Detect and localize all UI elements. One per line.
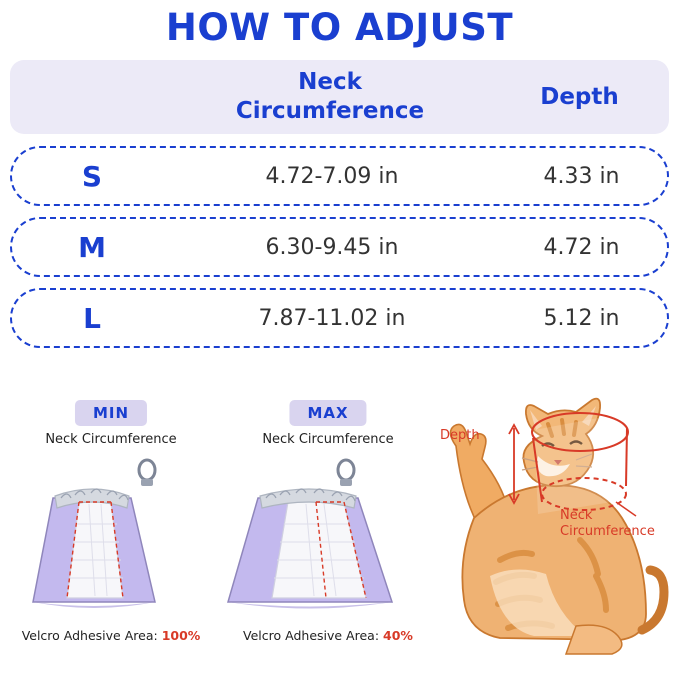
table-header-neck-line1: Neck <box>170 68 490 97</box>
velcro-label-max: Velcro Adhesive Area: <box>243 628 379 643</box>
table-header-depth: Depth <box>490 84 669 110</box>
label-neck-line2: Circumference <box>560 524 655 540</box>
table-header-neck-circumference: Neck Circumference <box>170 68 490 126</box>
panel-max-caption: Neck Circumference <box>222 432 434 447</box>
table-header-row: Neck Circumference Depth <box>10 60 669 134</box>
velcro-value-max: 40% <box>383 628 413 643</box>
table-row: S 4.72-7.09 in 4.33 in <box>10 146 669 206</box>
badge-max: MAX <box>289 400 366 426</box>
cone-max-illustration <box>222 452 434 627</box>
row-size-m: M <box>12 231 172 264</box>
row-neck-s: 4.72-7.09 in <box>172 164 492 189</box>
panel-max: MAX Neck Circumference <box>222 390 434 650</box>
velcro-label-min: Velcro Adhesive Area: <box>22 628 158 643</box>
label-depth: Depth <box>440 428 480 443</box>
adjustment-panels: MIN Neck Circumference <box>0 390 679 685</box>
row-size-s: S <box>12 160 172 193</box>
table-row: M 6.30-9.45 in 4.72 in <box>10 217 669 277</box>
row-neck-m: 6.30-9.45 in <box>172 235 492 260</box>
table-header-neck-line2: Circumference <box>170 97 490 126</box>
ring-icon <box>338 460 354 486</box>
label-neck-circumference: Neck Circumference <box>560 508 655 541</box>
table-row: L 7.87-11.02 in 5.12 in <box>10 288 669 348</box>
cone-min-illustration <box>5 452 217 627</box>
panel-min: MIN Neck Circumference <box>5 390 217 650</box>
panel-cat-measurement: Depth Neck Circumference <box>430 390 679 685</box>
ring-icon <box>139 460 155 486</box>
row-neck-l: 7.87-11.02 in <box>172 306 492 331</box>
size-chart-table: Neck Circumference Depth S 4.72-7.09 in … <box>10 60 669 359</box>
cone-on-cat <box>534 418 636 514</box>
row-size-l: L <box>12 302 172 335</box>
row-depth-s: 4.33 in <box>492 164 671 189</box>
label-neck-line1: Neck <box>560 508 655 524</box>
velcro-area-max: Velcro Adhesive Area: 40% <box>222 628 434 643</box>
panel-min-caption: Neck Circumference <box>5 432 217 447</box>
velcro-area-min: Velcro Adhesive Area: 100% <box>5 628 217 643</box>
page-title: HOW TO ADJUST <box>0 6 679 49</box>
velcro-value-min: 100% <box>162 628 201 643</box>
badge-min: MIN <box>75 400 147 426</box>
row-depth-l: 5.12 in <box>492 306 671 331</box>
row-depth-m: 4.72 in <box>492 235 671 260</box>
